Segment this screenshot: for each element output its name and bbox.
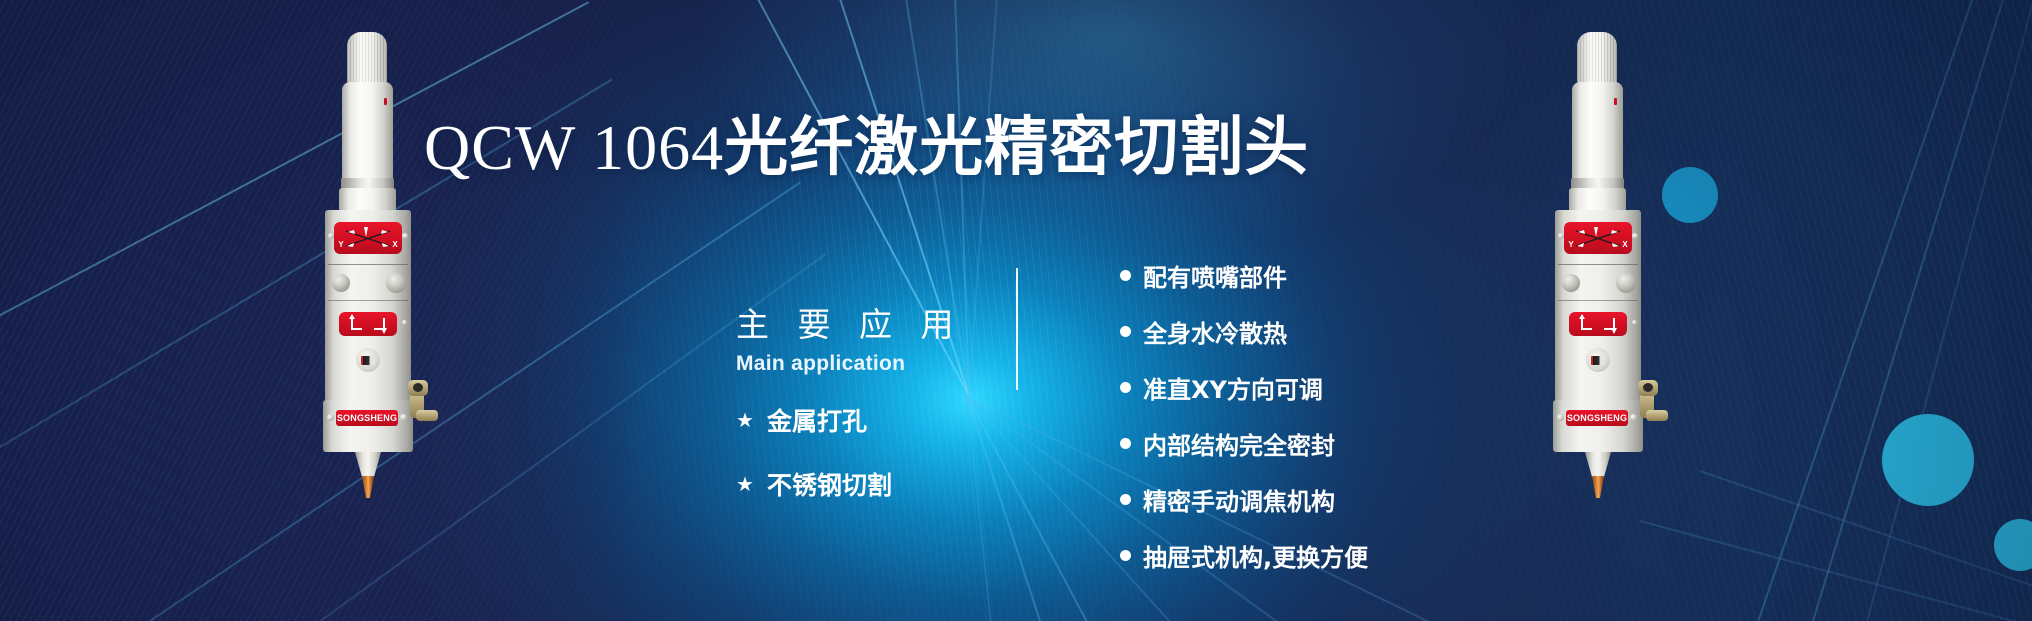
drawer-arrow-icon	[1569, 312, 1627, 336]
adjust-knob-left[interactable]	[1562, 274, 1580, 292]
drawer-seam-lower	[1558, 300, 1638, 301]
axis-label-y: Y	[1565, 240, 1577, 249]
application-list: ★ 金属打孔 ★ 不锈钢切割	[736, 402, 892, 530]
list-item: ★ 金属打孔	[736, 402, 892, 438]
upper-barrel	[342, 82, 393, 182]
nozzle-cone	[355, 452, 381, 478]
lower-block	[323, 400, 413, 452]
bullet-icon	[1120, 494, 1131, 505]
sensor-chip	[361, 356, 375, 365]
axis-label-x: X	[1619, 240, 1631, 249]
feature-item-label: 配有喷嘴部件	[1143, 258, 1287, 293]
axis-label-x: X	[389, 240, 401, 249]
list-item: 精密手动调焦机构	[1120, 482, 1368, 517]
lower-block	[1553, 400, 1643, 452]
plate-screw-right	[402, 233, 408, 239]
gas-fitting-bore	[413, 383, 423, 392]
body-screw-right	[1632, 320, 1637, 325]
laser-head-right: Y X SONGSHENG	[1548, 30, 1668, 600]
star-icon: ★	[736, 410, 754, 430]
bullet-icon	[1120, 438, 1131, 449]
collimator-indicator	[1614, 98, 1617, 105]
gas-fitting-arm	[416, 410, 438, 421]
list-item: 全身水冷散热	[1120, 314, 1368, 349]
xy-alignment-icon	[334, 222, 402, 254]
application-item-label: 不锈钢切割	[767, 466, 892, 502]
mid-collar	[1569, 188, 1626, 212]
list-item: 准直XY方向可调	[1120, 370, 1368, 405]
star-icon: ★	[736, 474, 754, 494]
list-item: 内部结构完全密封	[1120, 426, 1368, 461]
feature-item-label: 准直XY方向可调	[1143, 370, 1323, 405]
plate-screw-left	[1558, 233, 1564, 239]
laser-head-left: Y X SONGSHENG	[318, 30, 438, 600]
feature-list: 配有喷嘴部件 全身水冷散热 准直XY方向可调 内部结构完全密封 精密手动调焦机构…	[1120, 258, 1368, 594]
bullet-icon	[1120, 550, 1131, 561]
bullet-icon	[1120, 270, 1131, 281]
page-title-model: QCW 1064	[424, 112, 724, 183]
brand-screw-left	[1557, 414, 1564, 421]
cap-highlight	[1577, 32, 1617, 84]
body-screw-right	[402, 320, 407, 325]
axis-label-y: Y	[335, 240, 347, 249]
vertical-divider	[1016, 268, 1018, 390]
drawer-arrow-icon	[339, 312, 397, 336]
feature-item-label: 全身水冷散热	[1143, 314, 1287, 349]
plate-screw-left	[328, 233, 334, 239]
mid-collar	[339, 188, 396, 212]
nozzle-tip	[362, 476, 374, 498]
nozzle-tip	[1592, 476, 1604, 498]
promo-banner: QCW 1064光纤激光精密切割头 主 要 应 用 Main applicati…	[0, 0, 2032, 621]
application-subheading: Main application	[736, 352, 905, 376]
xy-alignment-icon	[1564, 222, 1632, 254]
page-title-cn: 光纤激光精密切割头	[724, 111, 1309, 185]
plate-screw-right	[1632, 233, 1638, 239]
nozzle-cone	[1585, 452, 1611, 478]
drawer-seam-lower	[328, 300, 408, 301]
gas-fitting-arm	[1646, 410, 1668, 421]
list-item: 配有喷嘴部件	[1120, 258, 1368, 293]
list-item: 抽屉式机构,更换方便	[1120, 538, 1368, 573]
adjust-knob-right[interactable]	[1616, 273, 1636, 293]
adjust-knob-right[interactable]	[386, 273, 406, 293]
sensor-chip	[1591, 356, 1605, 365]
brand-label-text: SONGSHENG	[1566, 413, 1628, 423]
adjust-knob-left[interactable]	[332, 274, 350, 292]
feature-item-label: 精密手动调焦机构	[1143, 482, 1335, 517]
bullet-icon	[1120, 382, 1131, 393]
bullet-icon	[1120, 326, 1131, 337]
application-heading: 主 要 应 用	[736, 298, 962, 346]
brand-label-text: SONGSHENG	[336, 413, 398, 423]
page-title: QCW 1064光纤激光精密切割头	[424, 96, 1309, 188]
application-item-label: 金属打孔	[767, 402, 867, 438]
list-item: ★ 不锈钢切割	[736, 466, 892, 502]
drawer-seam	[328, 264, 408, 265]
cap-highlight	[347, 32, 387, 84]
brand-screw-right	[400, 414, 407, 421]
drawer-seam	[1558, 264, 1638, 265]
feature-item-label: 抽屉式机构,更换方便	[1143, 538, 1368, 573]
collimator-indicator	[384, 98, 387, 105]
upper-barrel	[1572, 82, 1623, 182]
feature-item-label: 内部结构完全密封	[1143, 426, 1335, 461]
brand-screw-right	[1630, 414, 1637, 421]
gas-fitting-bore	[1643, 383, 1653, 392]
brand-screw-left	[327, 414, 334, 421]
